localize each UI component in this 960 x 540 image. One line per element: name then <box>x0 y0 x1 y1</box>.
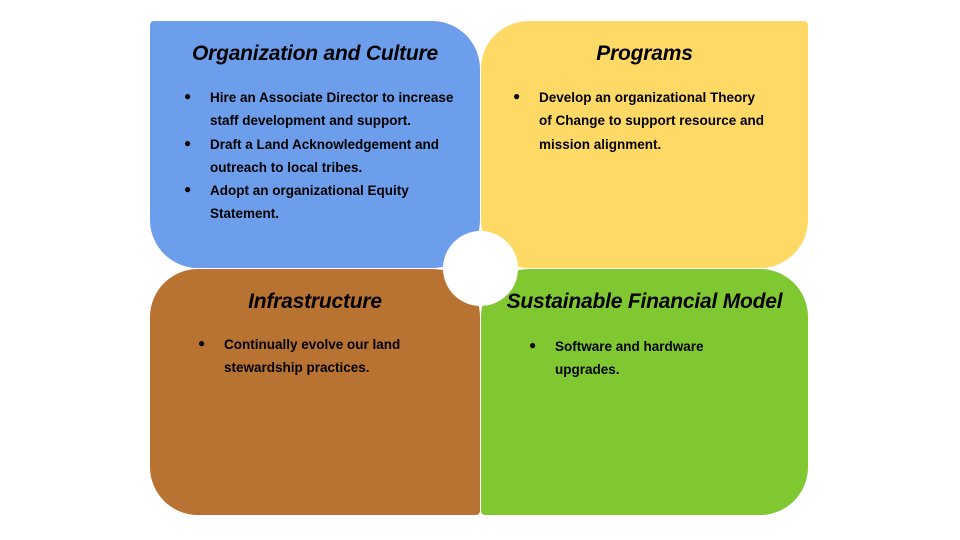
bullet-dot-icon: ● <box>529 335 555 356</box>
bullet-dot-icon: ● <box>184 133 210 154</box>
bullet-list-organization-and-culture: ● Hire an Associate Director to increase… <box>184 86 458 225</box>
bullet-list-infrastructure: ● Continually evolve our land stewardshi… <box>198 333 458 379</box>
list-item-label: Develop an organizational Theory of Chan… <box>539 86 767 156</box>
bullet-dot-icon: ● <box>513 86 539 107</box>
bullet-dot-icon: ● <box>198 333 224 354</box>
list-item-label: Adopt an organizational Equity Statement… <box>210 179 458 225</box>
quadrant-title-organization-and-culture: Organization and Culture <box>150 21 480 66</box>
bullet-list-programs: ● Develop an organizational Theory of Ch… <box>513 86 778 156</box>
list-item: ● Continually evolve our land stewardshi… <box>198 333 458 379</box>
list-item-label: Draft a Land Acknowledgement and outreac… <box>210 133 458 179</box>
quadrant-organization-and-culture[interactable]: Organization and Culture ● Hire an Assoc… <box>150 21 480 268</box>
list-item-label: Continually evolve our land stewardship … <box>224 333 454 379</box>
quadrant-sustainable-financial-model[interactable]: Sustainable Financial Model ● Software a… <box>481 269 808 515</box>
list-item: ● Draft a Land Acknowledgement and outre… <box>184 133 458 179</box>
center-circle <box>443 231 518 306</box>
bullet-dot-icon: ● <box>184 86 210 107</box>
quadrant-programs[interactable]: Programs ● Develop an organizational The… <box>481 21 808 268</box>
quadrant-infrastructure[interactable]: Infrastructure ● Continually evolve our … <box>150 269 480 515</box>
list-item-label: Software and hardware upgrades. <box>555 335 755 381</box>
bullet-dot-icon: ● <box>184 179 210 200</box>
quadrant-title-infrastructure: Infrastructure <box>150 269 480 314</box>
strategic-plan-quadrant-slide: Organization and Culture ● Hire an Assoc… <box>0 0 960 540</box>
bullet-list-sustainable-financial-model: ● Software and hardware upgrades. <box>529 335 786 381</box>
list-item: ● Software and hardware upgrades. <box>529 335 786 381</box>
quadrant-title-sustainable-financial-model: Sustainable Financial Model <box>481 269 808 314</box>
list-item: ● Adopt an organizational Equity Stateme… <box>184 179 458 225</box>
quadrant-title-programs: Programs <box>481 21 808 66</box>
list-item-label: Hire an Associate Director to increase s… <box>210 86 458 132</box>
list-item: ● Develop an organizational Theory of Ch… <box>513 86 778 156</box>
list-item: ● Hire an Associate Director to increase… <box>184 86 458 132</box>
